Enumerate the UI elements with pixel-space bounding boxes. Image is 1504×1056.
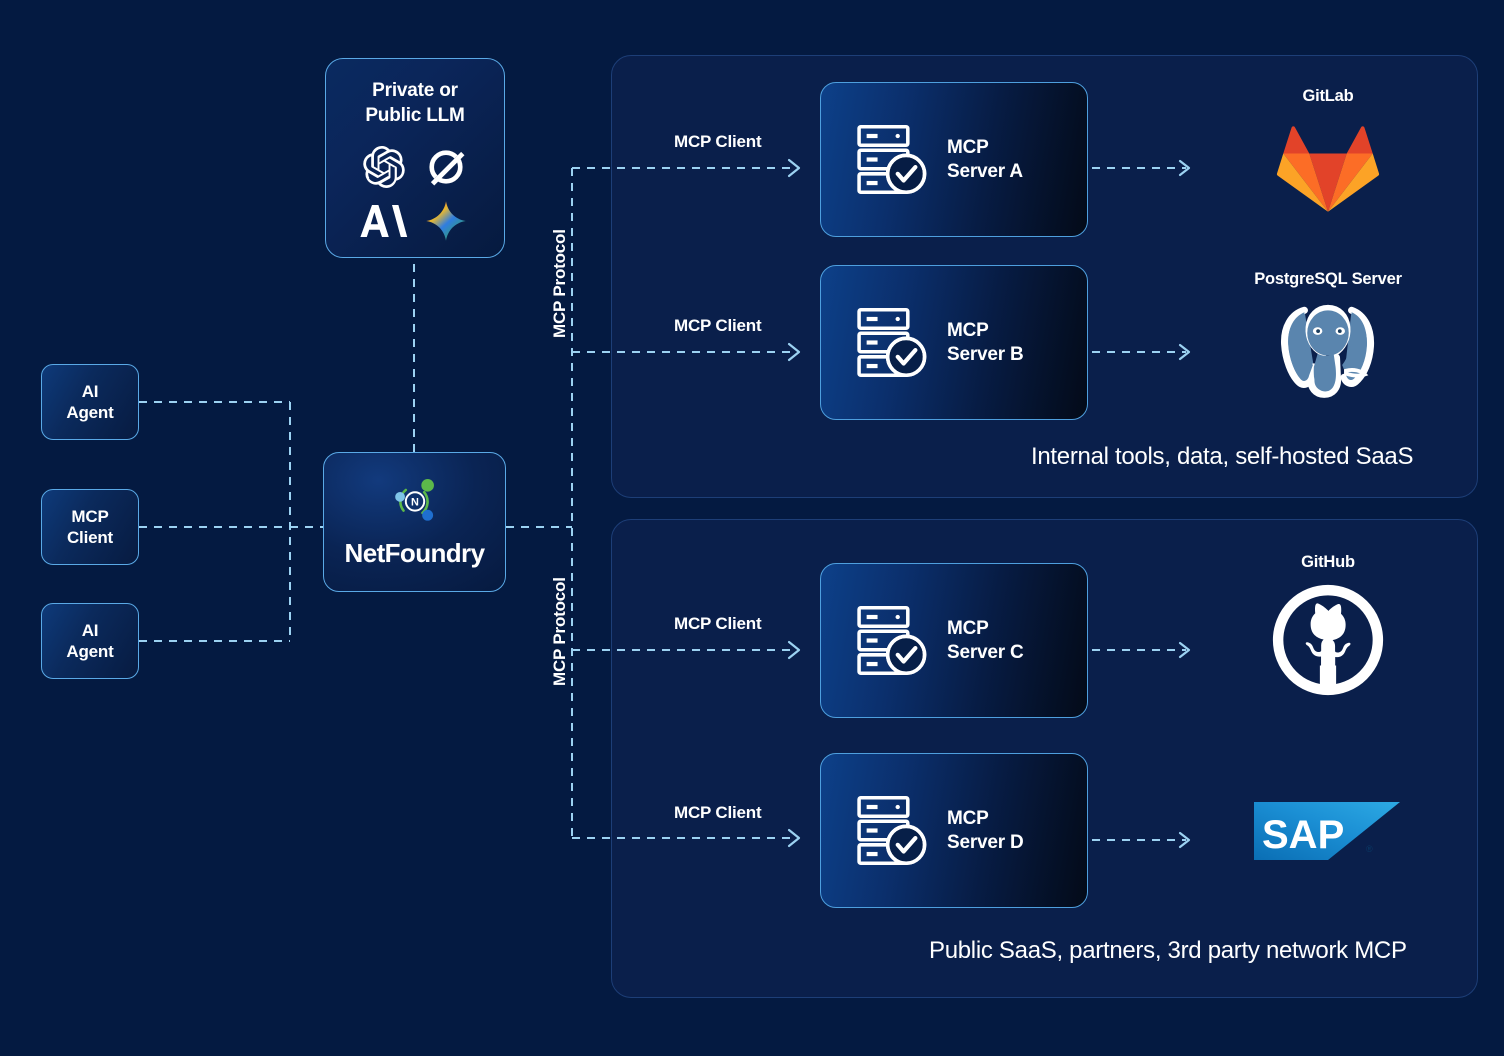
mcp-client-line2: Client [67,528,113,547]
mcp-client-box[interactable]: MCP Client [41,489,139,565]
gitlab-logo [1276,116,1380,219]
openai-logo [363,146,405,193]
grok-logo [425,146,467,193]
diagram-canvas: Internal tools, data, self-hosted SaaS P… [0,0,1504,1056]
mcp-protocol-label-bottom: MCP Protocol [550,577,570,686]
mcp-protocol-label-top: MCP Protocol [550,229,570,338]
gemini-logo [425,200,467,247]
mcp-server-d-line1: MCP [947,808,989,829]
server-rack-icon [849,298,933,387]
mcp-server-a-line1: MCP [947,137,989,158]
mcp-server-c-line2: Server C [947,642,1024,663]
mcp-server-d[interactable]: MCP Server D [820,753,1088,908]
server-rack-icon [849,786,933,875]
private-or-public-llm-box[interactable]: Private or Public LLM [325,58,505,258]
github-logo [1270,582,1386,703]
netfoundry-logo: N [386,475,444,534]
postgresql-title: PostgreSQL Server [1254,270,1402,289]
server-rack-icon [849,596,933,685]
llm-logo-grid [353,142,477,250]
external-github[interactable]: GitHub [1240,553,1416,703]
edge-label-server-b: MCP Client [674,316,761,336]
ai-agent-bottom[interactable]: AI Agent [41,603,139,679]
mcp-server-a[interactable]: MCP Server A [820,82,1088,237]
server-rack-icon [849,115,933,204]
sap-logo: SAP ® [1254,800,1402,867]
ai-agent-top[interactable]: AI Agent [41,364,139,440]
gitlab-title: GitLab [1302,87,1353,106]
svg-text:®: ® [1366,844,1373,854]
edge-label-server-d: MCP Client [674,803,761,823]
mcp-server-c-line1: MCP [947,618,989,639]
panel-internal-caption: Internal tools, data, self-hosted SaaS [1031,443,1413,471]
mcp-server-b-line1: MCP [947,320,989,341]
github-title: GitHub [1301,553,1355,572]
external-postgresql[interactable]: PostgreSQL Server [1232,270,1424,404]
anthropic-logo [360,201,408,246]
panel-public-caption: Public SaaS, partners, 3rd party network… [929,937,1407,965]
ai-agent-top-line2: Agent [66,403,113,422]
ai-agent-bottom-line2: Agent [66,642,113,661]
sap-wordmark: SAP [1262,813,1344,857]
mcp-server-a-line2: Server A [947,161,1023,182]
mcp-server-c[interactable]: MCP Server C [820,563,1088,718]
mcp-server-d-line2: Server D [947,832,1024,853]
ai-agent-top-line1: AI [82,382,99,401]
netfoundry-wordmark: NetFoundry [345,538,485,569]
edge-label-server-a: MCP Client [674,132,761,152]
llm-line1: Private or [372,80,458,101]
mcp-server-b[interactable]: MCP Server B [820,265,1088,420]
svg-text:N: N [411,496,419,508]
mcp-server-b-line2: Server B [947,344,1024,365]
external-gitlab[interactable]: GitLab [1240,87,1416,219]
external-sap[interactable]: SAP ® [1254,800,1402,867]
netfoundry-box[interactable]: N NetFoundry [323,452,506,592]
edge-label-server-c: MCP Client [674,614,761,634]
llm-line2: Public LLM [365,105,464,126]
postgresql-logo [1276,299,1380,404]
mcp-client-line1: MCP [71,507,108,526]
ai-agent-bottom-line1: AI [82,621,99,640]
